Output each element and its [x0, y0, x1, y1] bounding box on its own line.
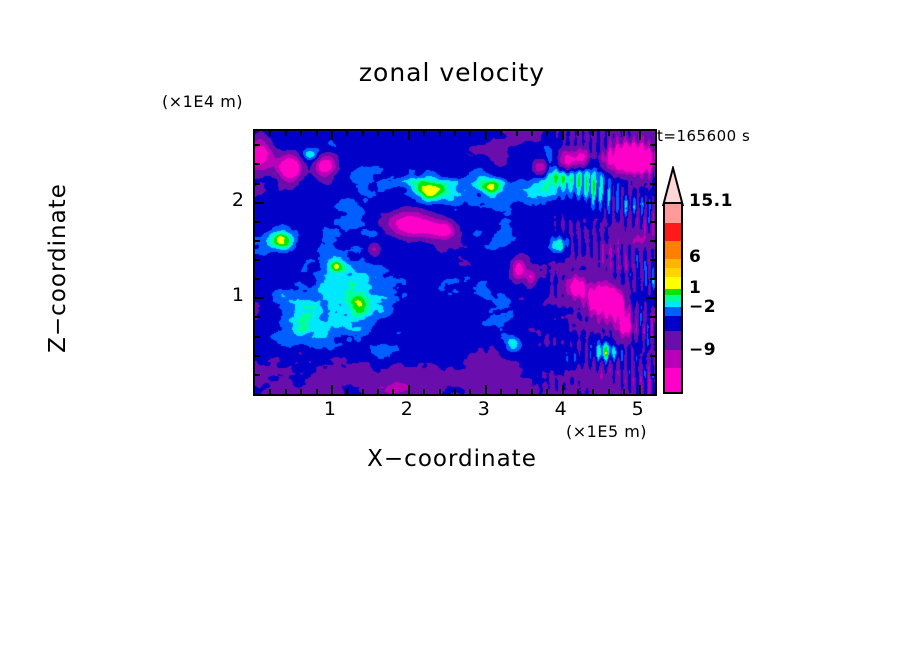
x-tick-label: 1 — [315, 398, 345, 420]
x-tick-label: 3 — [469, 398, 499, 420]
x-tick-minor — [423, 389, 425, 394]
x-tick-minor — [516, 389, 518, 394]
x-tick-label: 4 — [546, 398, 576, 420]
x-tick-minor — [531, 389, 533, 394]
x-tick-minor — [377, 389, 379, 394]
x-tick-minor — [623, 389, 625, 394]
colorbar-tick-label: 6 — [689, 247, 701, 267]
x-tick-top-minor — [592, 131, 594, 136]
x-tick-top-major — [562, 131, 564, 140]
colorbar-band — [665, 277, 681, 289]
y-tick-minor — [255, 163, 260, 165]
colorbar-band — [665, 268, 681, 277]
x-tick-minor — [500, 389, 502, 394]
y-tick-minor — [255, 259, 260, 261]
y-tick-right-minor — [650, 355, 655, 357]
x-tick-major — [639, 385, 641, 394]
x-tick-top-minor — [300, 131, 302, 136]
y-tick-right-minor — [650, 163, 655, 165]
x-tick-minor — [454, 389, 456, 394]
colorbar-band — [665, 307, 681, 316]
y-tick-right-minor — [650, 221, 655, 223]
colorbar-band — [665, 241, 681, 259]
x-tick-top-minor — [269, 131, 271, 136]
x-tick-top-minor — [439, 131, 441, 136]
x-tick-minor — [316, 389, 318, 394]
page-title: zonal velocity — [0, 58, 904, 87]
colorbar-tick-label: −9 — [689, 340, 716, 360]
x-tick-top-minor — [608, 131, 610, 136]
x-tick-minor — [392, 389, 394, 394]
y-tick-minor — [255, 221, 260, 223]
x-tick-minor — [469, 389, 471, 394]
y-tick-right-minor — [650, 240, 655, 242]
y-tick-minor — [255, 355, 260, 357]
y-tick-label: 1 — [222, 284, 244, 306]
x-tick-major — [408, 385, 410, 394]
colorbar-band — [665, 368, 681, 392]
y-tick-major — [255, 297, 264, 299]
y-tick-right-minor — [650, 259, 655, 261]
y-tick-right-major — [646, 297, 655, 299]
y-tick-minor — [255, 374, 260, 376]
x-tick-top-minor — [531, 131, 533, 136]
x-tick-top-major — [485, 131, 487, 140]
time-annotation: t=165600 s — [657, 127, 750, 145]
contour-field-canvas — [255, 131, 655, 394]
x-tick-top-minor — [577, 131, 579, 136]
y-tick-right-minor — [650, 316, 655, 318]
x-tick-top-minor — [377, 131, 379, 136]
x-tick-top-minor — [516, 131, 518, 136]
y-tick-minor — [255, 316, 260, 318]
y-tick-minor — [255, 240, 260, 242]
y-tick-right-minor — [650, 183, 655, 185]
y-tick-minor — [255, 278, 260, 280]
y-tick-minor — [255, 336, 260, 338]
colorbar-extend-arrow-icon — [658, 166, 688, 206]
colorbar-band — [665, 316, 681, 331]
colorbar-tick-label: 1 — [689, 278, 701, 298]
x-axis-title: X−coordinate — [0, 446, 904, 472]
x-tick-top-minor — [362, 131, 364, 136]
x-tick-top-minor — [346, 131, 348, 136]
colorbar-band — [665, 331, 681, 349]
x-tick-top-minor — [623, 131, 625, 136]
colorbar-band — [665, 259, 681, 268]
y-tick-major — [255, 202, 264, 204]
x-tick-top-minor — [454, 131, 456, 136]
x-tick-top-minor — [546, 131, 548, 136]
x-tick-minor — [592, 389, 594, 394]
x-tick-minor — [269, 389, 271, 394]
x-axis-unit-label: (×1E5 m) — [566, 422, 647, 441]
y-tick-minor — [255, 183, 260, 185]
y-tick-right-minor — [650, 278, 655, 280]
x-tick-minor — [346, 389, 348, 394]
colorbar-tick-label: 15.1 — [689, 191, 733, 211]
x-tick-top-minor — [285, 131, 287, 136]
x-tick-top-minor — [392, 131, 394, 136]
y-tick-right-minor — [650, 144, 655, 146]
x-tick-label: 2 — [392, 398, 422, 420]
x-tick-top-minor — [500, 131, 502, 136]
x-tick-major — [562, 385, 564, 394]
x-tick-minor — [285, 389, 287, 394]
x-tick-minor — [577, 389, 579, 394]
x-tick-minor — [439, 389, 441, 394]
y-tick-right-minor — [650, 374, 655, 376]
x-tick-top-major — [408, 131, 410, 140]
x-tick-minor — [300, 389, 302, 394]
x-tick-top-major — [331, 131, 333, 140]
x-tick-minor — [362, 389, 364, 394]
colorbar-tick-label: −2 — [689, 297, 716, 317]
colorbar-band — [665, 350, 681, 368]
x-tick-major — [485, 385, 487, 394]
colorbar-bands — [663, 202, 683, 394]
y-tick-right-major — [646, 202, 655, 204]
contour-plot-area[interactable] — [253, 129, 657, 396]
x-tick-top-major — [639, 131, 641, 140]
x-tick-major — [331, 385, 333, 394]
y-axis-unit-label: (×1E4 m) — [162, 92, 243, 111]
colorbar[interactable] — [658, 166, 688, 394]
y-tick-right-minor — [650, 336, 655, 338]
y-axis-title: Z−coordinate — [45, 118, 71, 418]
y-tick-minor — [255, 144, 260, 146]
colorbar-band — [665, 223, 681, 241]
colorbar-band — [665, 204, 681, 223]
x-tick-top-minor — [469, 131, 471, 136]
x-tick-minor — [608, 389, 610, 394]
x-tick-label: 5 — [623, 398, 653, 420]
x-tick-top-minor — [316, 131, 318, 136]
y-tick-label: 2 — [222, 189, 244, 211]
x-tick-minor — [546, 389, 548, 394]
x-tick-top-minor — [423, 131, 425, 136]
